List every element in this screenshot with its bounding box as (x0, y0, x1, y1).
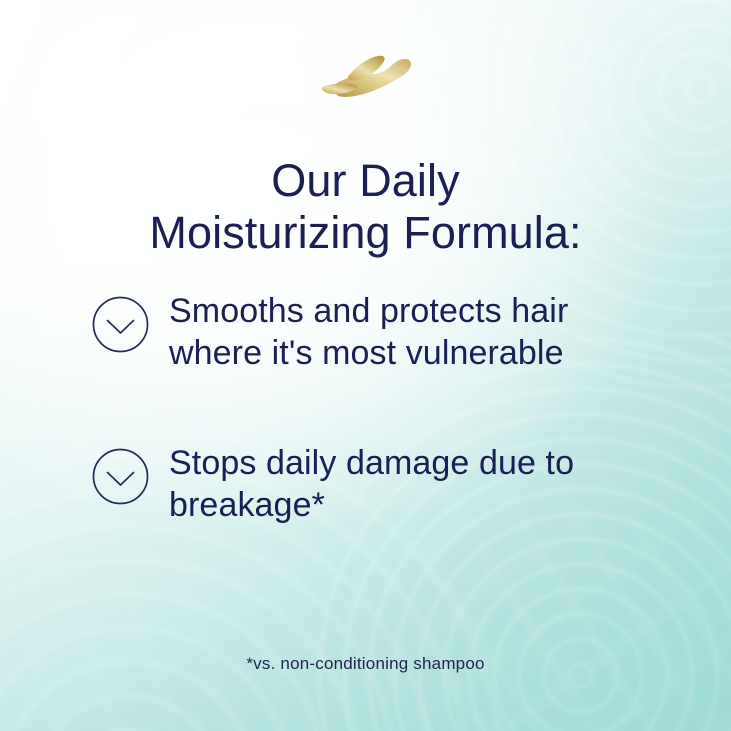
benefit-text-line-2: breakage* (169, 484, 574, 526)
benefits-list: Smooths and protects hair where it's mos… (92, 288, 681, 526)
benefit-text: Smooths and protects hair where it's mos… (169, 288, 568, 374)
product-claims-card: Our Daily Moisturizing Formula: Smooths … (0, 0, 731, 731)
benefit-text-line-1: Smooths and protects hair (169, 290, 568, 332)
benefit-text-line-1: Stops daily damage due to (169, 442, 574, 484)
page-title-line-1: Our Daily (0, 155, 731, 207)
check-circle-icon (92, 448, 149, 505)
footnote-disclaimer: *vs. non-conditioning shampoo (0, 653, 731, 675)
dove-bird-icon (320, 55, 412, 101)
page-title: Our Daily Moisturizing Formula: (0, 155, 731, 259)
benefit-text: Stops daily damage due to breakage* (169, 440, 574, 526)
list-item: Stops daily damage due to breakage* (92, 440, 681, 526)
benefit-text-line-2: where it's most vulnerable (169, 332, 568, 374)
brand-logo (0, 55, 731, 101)
card-content: Our Daily Moisturizing Formula: Smooths … (0, 0, 731, 731)
page-title-line-2: Moisturizing Formula: (0, 207, 731, 259)
list-item: Smooths and protects hair where it's mos… (92, 288, 681, 374)
check-circle-icon (92, 296, 149, 353)
